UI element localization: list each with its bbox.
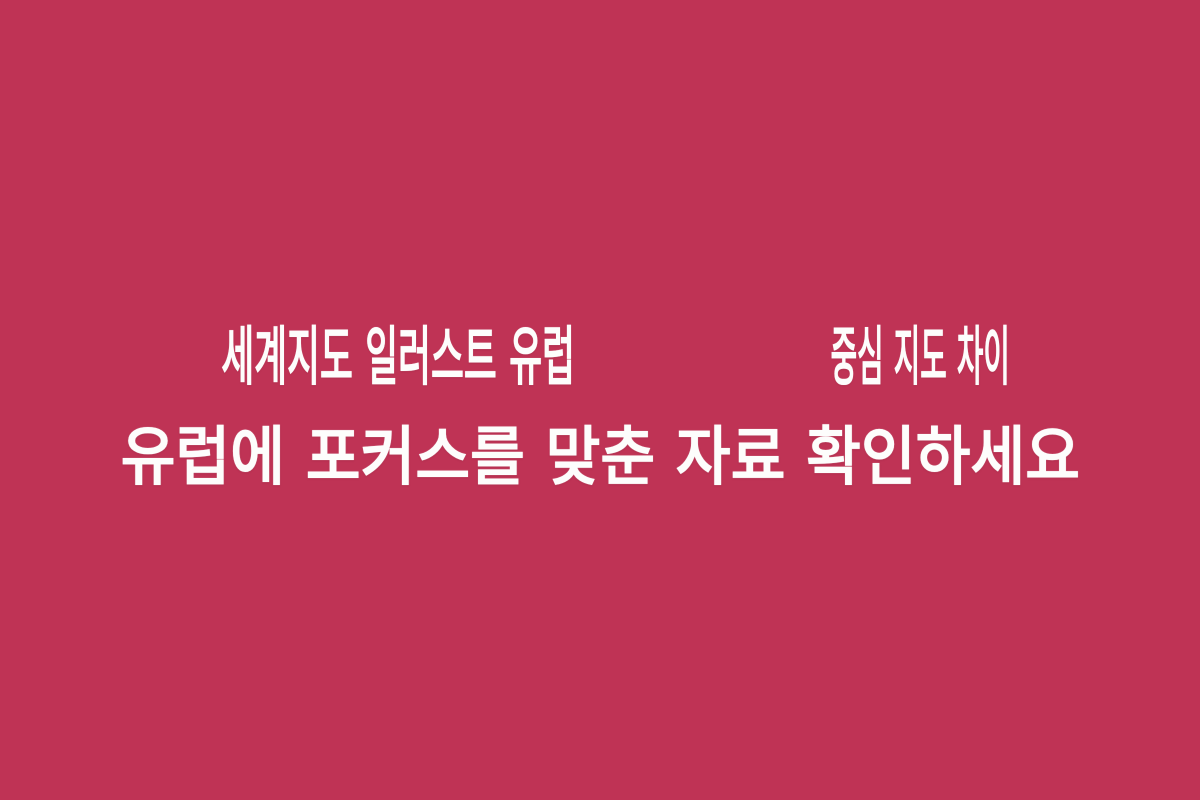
headline-line-3: 유럽에 포커스를 맞춘 자료 확인하세요 [120,416,1079,501]
title-card: 세계지도 일러스트 유럽 중심 지도 차이 유럽에 포커스를 맞춘 자료 확인하… [0,0,1200,800]
headline-line-1: 세계지도 일러스트 유럽 [221,316,575,401]
headline-block: 세계지도 일러스트 유럽 중심 지도 차이 유럽에 포커스를 맞춘 자료 확인하… [10,316,1190,516]
headline-line-2: 중심 지도 차이 [830,316,1009,401]
